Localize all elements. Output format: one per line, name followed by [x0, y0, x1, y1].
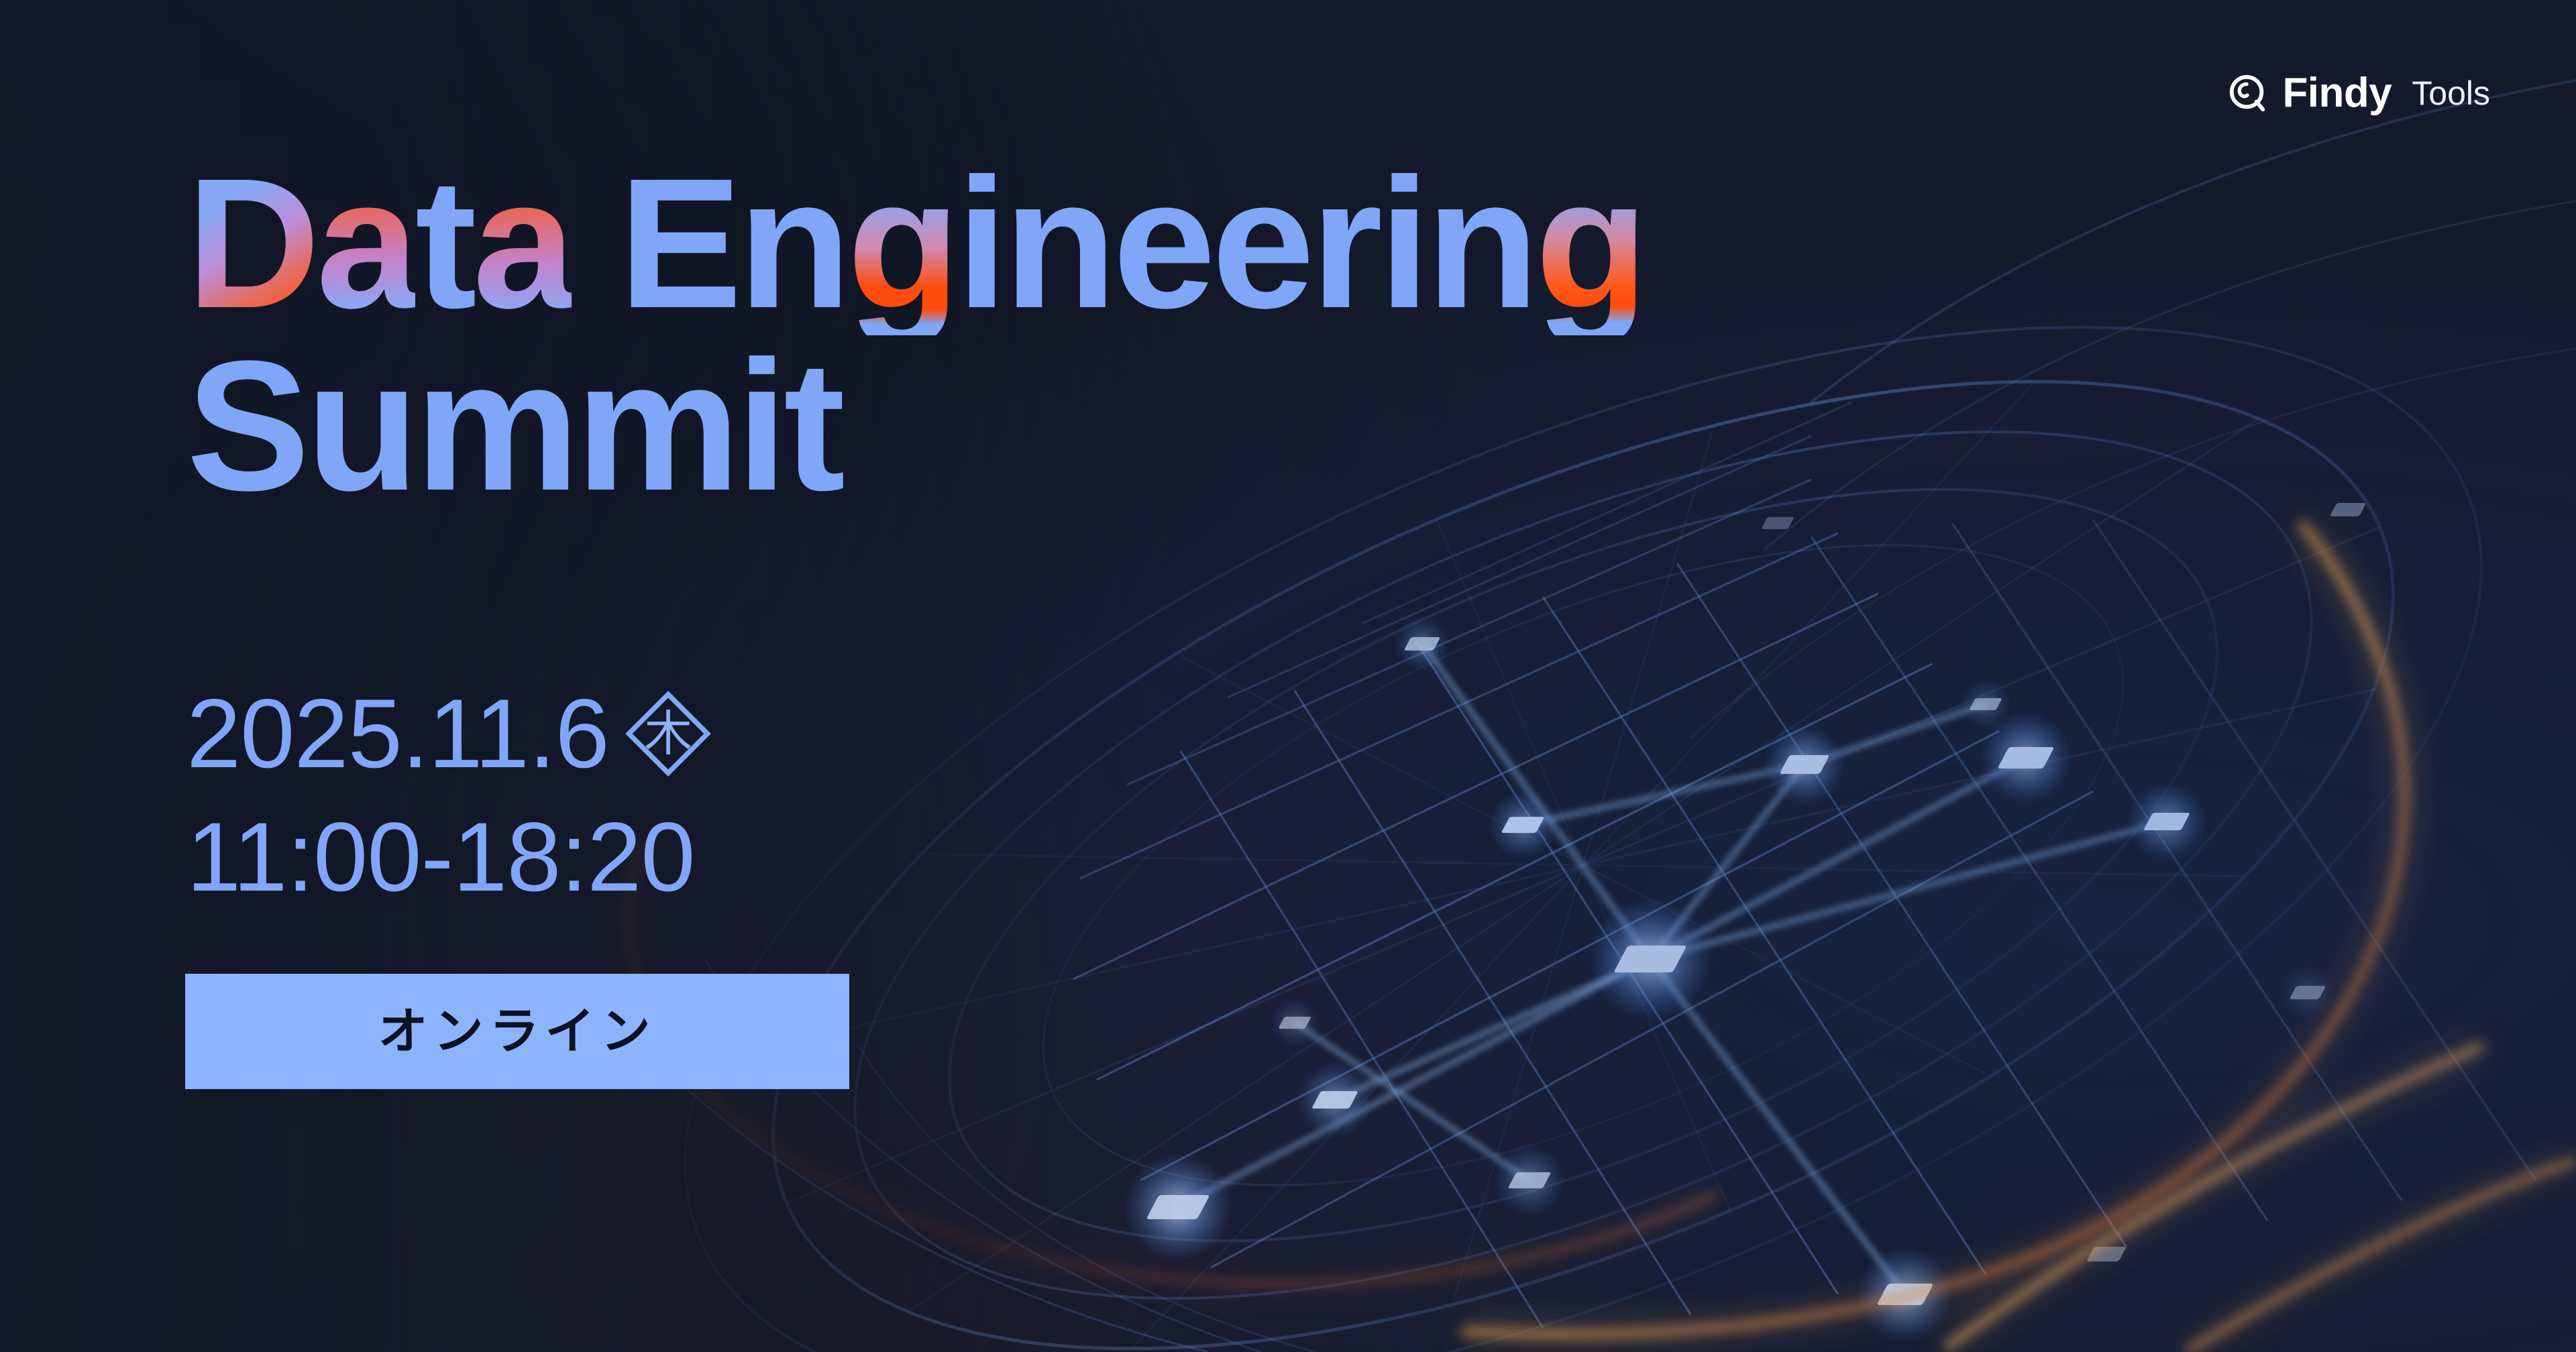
- findy-q-mark-icon: [2227, 72, 2269, 114]
- logo-wordmark: Findy: [2282, 72, 2392, 114]
- event-time: 11:00-18:20: [186, 808, 695, 906]
- event-date: 2025.11.6: [186, 685, 609, 783]
- logo-sub-label: Tools: [2412, 76, 2490, 110]
- title-line-1: DataEngineering: [186, 153, 2333, 335]
- event-banner: Findy Tools DataEngineering Summit 2025.…: [0, 0, 2576, 1352]
- event-date-row: 2025.11.6 木: [186, 684, 718, 783]
- page-title: DataEngineering Summit: [186, 153, 2333, 518]
- format-badge-label: オンライン: [378, 1007, 657, 1056]
- weekday-diamond-badge: 木: [619, 684, 718, 783]
- orange-streaks: [1945, 1046, 2576, 1351]
- format-badge-online: オンライン: [185, 974, 849, 1089]
- mesh-nodes: [1123, 503, 2366, 1343]
- title-line-2: Summit: [186, 335, 2333, 518]
- findy-tools-logo[interactable]: Findy Tools: [2227, 72, 2490, 114]
- weekday-label: 木: [644, 710, 692, 758]
